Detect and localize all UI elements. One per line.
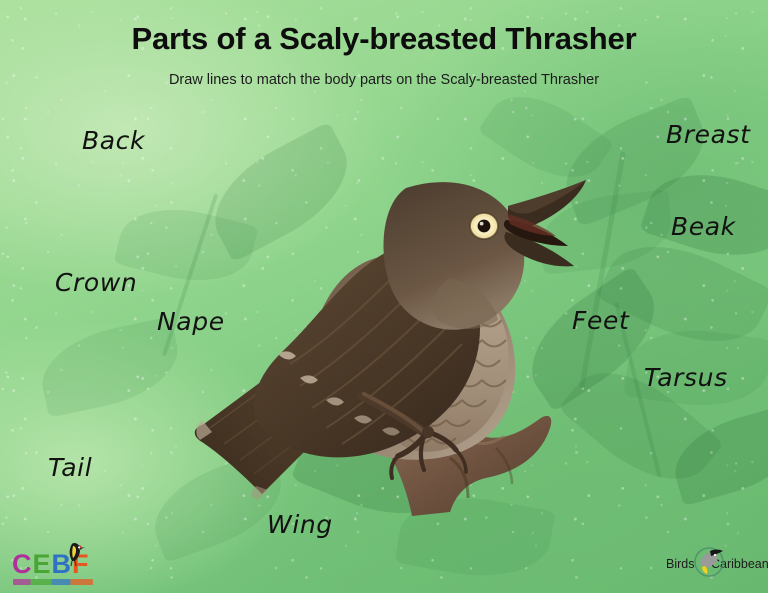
label-back[interactable]: Back <box>82 126 145 155</box>
label-feet[interactable]: Feet <box>572 306 629 335</box>
label-tail[interactable]: Tail <box>48 453 92 482</box>
bc-word-birds: Birds <box>666 557 694 571</box>
worksheet-poster: Parts of a Scaly-breasted Thrasher Draw … <box>0 0 768 593</box>
cebf-tagline-bar <box>13 579 93 585</box>
label-crown[interactable]: Crown <box>55 268 137 297</box>
label-wing[interactable]: Wing <box>267 510 333 539</box>
label-breast[interactable]: Breast <box>666 120 751 149</box>
page-title: Parts of a Scaly-breasted Thrasher <box>0 21 768 57</box>
woodpecker-icon <box>61 541 85 567</box>
birds-caribbean-logo[interactable]: Birds Caribbean <box>664 545 764 587</box>
cebf-letter-c: C <box>12 551 33 578</box>
label-tarsus[interactable]: Tarsus <box>644 363 728 392</box>
bird-in-circle-icon <box>692 545 726 579</box>
bird-eye <box>470 213 498 239</box>
cebf-logo[interactable]: CEBF <box>12 543 104 589</box>
cebf-letter-e: E <box>33 551 52 578</box>
page-subtitle: Draw lines to match the body parts on th… <box>0 72 768 88</box>
label-beak[interactable]: Beak <box>671 212 736 241</box>
label-nape[interactable]: Nape <box>157 307 225 336</box>
